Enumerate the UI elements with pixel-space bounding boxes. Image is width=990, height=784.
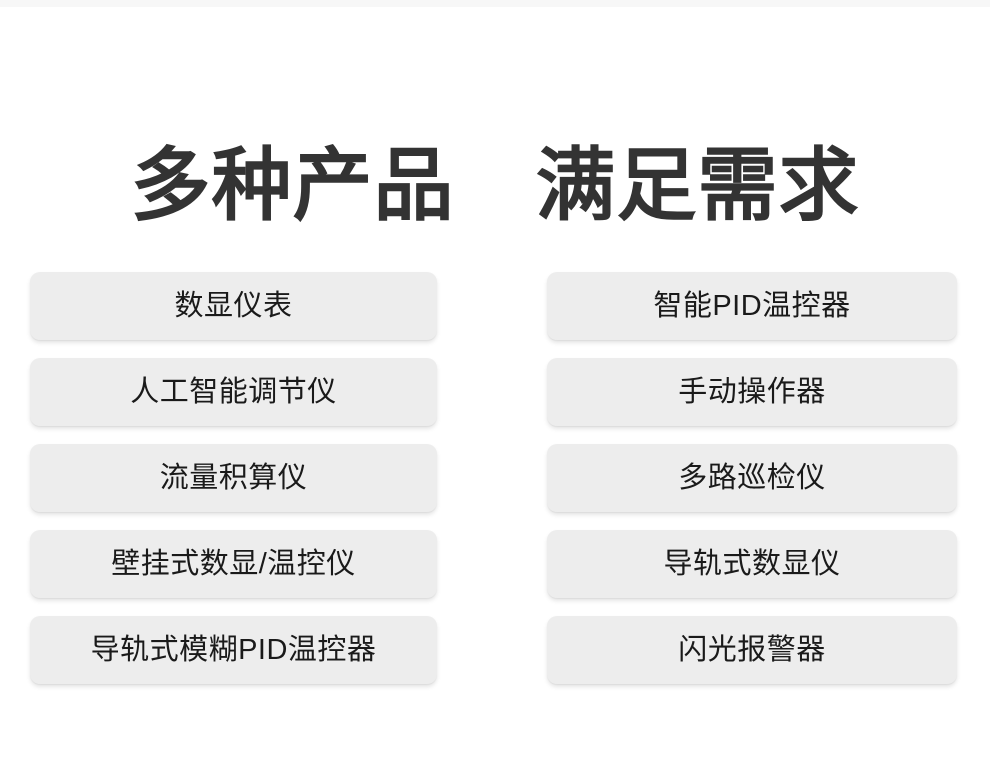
product-category-label: 数显仪表	[174, 289, 292, 323]
product-category-label: 壁挂式数显/温控仪	[111, 547, 356, 581]
product-category-item[interactable]: 导轨式数显仪	[547, 530, 957, 598]
product-category-item[interactable]: 闪光报警器	[547, 616, 957, 684]
product-category-item[interactable]: 手动操作器	[547, 358, 957, 426]
product-category-item[interactable]: 数显仪表	[30, 272, 437, 340]
product-category-item[interactable]: 多路巡检仪	[547, 444, 957, 512]
product-category-item[interactable]: 壁挂式数显/温控仪	[30, 530, 437, 598]
product-category-list: 数显仪表 人工智能调节仪 流量积算仪 壁挂式数显/温控仪 导轨式模糊PID温控器…	[0, 272, 990, 688]
product-category-label: 手动操作器	[678, 375, 826, 409]
product-category-label: 闪光报警器	[678, 633, 826, 667]
product-category-label: 导轨式数显仪	[663, 547, 840, 581]
product-category-item[interactable]: 人工智能调节仪	[30, 358, 437, 426]
product-category-label: 多路巡检仪	[678, 461, 826, 495]
page-title: 多种产品 满足需求	[0, 134, 990, 238]
product-category-item[interactable]: 流量积算仪	[30, 444, 437, 512]
product-column-left: 数显仪表 人工智能调节仪 流量积算仪 壁挂式数显/温控仪 导轨式模糊PID温控器	[30, 272, 437, 684]
product-category-label: 导轨式模糊PID温控器	[91, 633, 377, 667]
product-category-item[interactable]: 导轨式模糊PID温控器	[30, 616, 437, 684]
product-category-label: 流量积算仪	[160, 461, 308, 495]
product-category-label: 人工智能调节仪	[130, 375, 337, 409]
product-column-right: 智能PID温控器 手动操作器 多路巡检仪 导轨式数显仪 闪光报警器	[547, 272, 957, 684]
product-category-item[interactable]: 智能PID温控器	[547, 272, 957, 340]
top-section-divider	[0, 0, 990, 7]
product-category-label: 智能PID温控器	[653, 289, 850, 323]
